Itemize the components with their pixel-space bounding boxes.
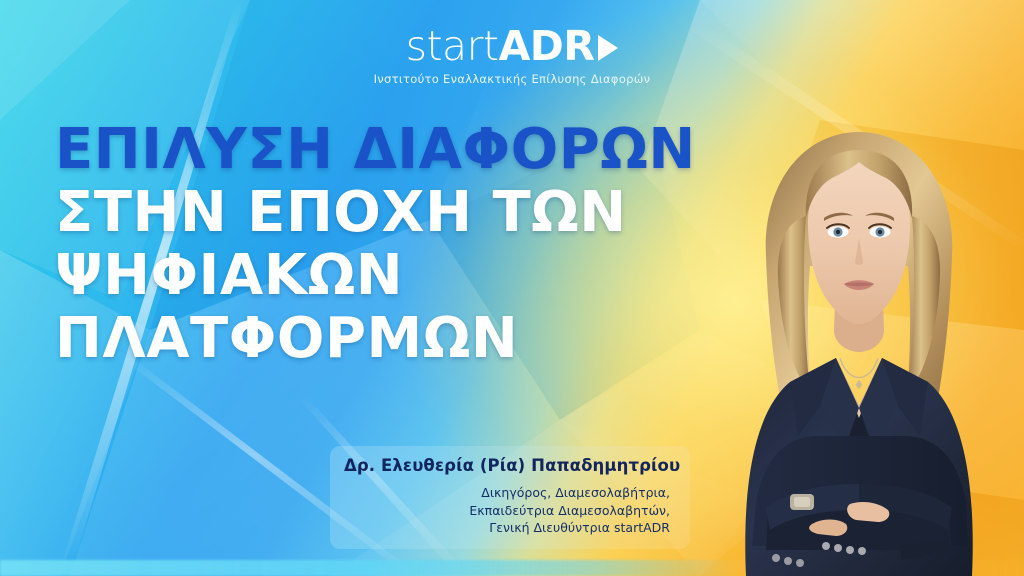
- headline-line-2: ΣΤΗΝ ΕΠΟΧΗ ΤΩΝ: [55, 181, 755, 244]
- logo-wordmark: startADR: [406, 26, 619, 67]
- brand-tagline: Ινστιτούτο Εναλλακτικής Επίλυσης Διαφορώ…: [0, 72, 1024, 86]
- speaker-role-line-3: Γενική Διευθύντρια startADR: [344, 519, 676, 537]
- brand-logo: startADR Ινστιτούτο Εναλλακτικής Επίλυση…: [0, 26, 1024, 86]
- headline-line-4: ΠΛΑΤΦΟΡΜΩΝ: [55, 307, 755, 370]
- presentation-slide: startADR Ινστιτούτο Εναλλακτικής Επίλυση…: [0, 0, 1024, 576]
- page-title: ΕΠΙΛΥΣΗ ΔΙΑΦΟΡΩΝ ΣΤΗΝ ΕΠΟΧΗ ΤΩΝ ΨΗΦΙΑΚΩΝ…: [55, 118, 755, 370]
- headline-line-3: ΨΗΦΙΑΚΩΝ: [55, 244, 755, 307]
- speaker-role-line-2: Εκπαιδεύτρια Διαμεσολαβητών,: [344, 502, 676, 520]
- headline-line-1: ΕΠΙΛΥΣΗ ΔΙΑΦΟΡΩΝ: [55, 118, 755, 181]
- speaker-portrait: [694, 106, 1024, 576]
- speaker-card: Δρ. Ελευθερία (Ρία) Παπαδημητρίου Δικηγό…: [330, 446, 690, 549]
- speaker-role-line-1: Δικηγόρος, Διαμεσολαβήτρια,: [344, 484, 676, 502]
- play-triangle-icon: [598, 35, 618, 61]
- logo-bold-text: ADR: [499, 26, 595, 67]
- speaker-name: Δρ. Ελευθερία (Ρία) Παπαδημητρίου: [344, 456, 676, 475]
- logo-light-text: start: [406, 26, 499, 67]
